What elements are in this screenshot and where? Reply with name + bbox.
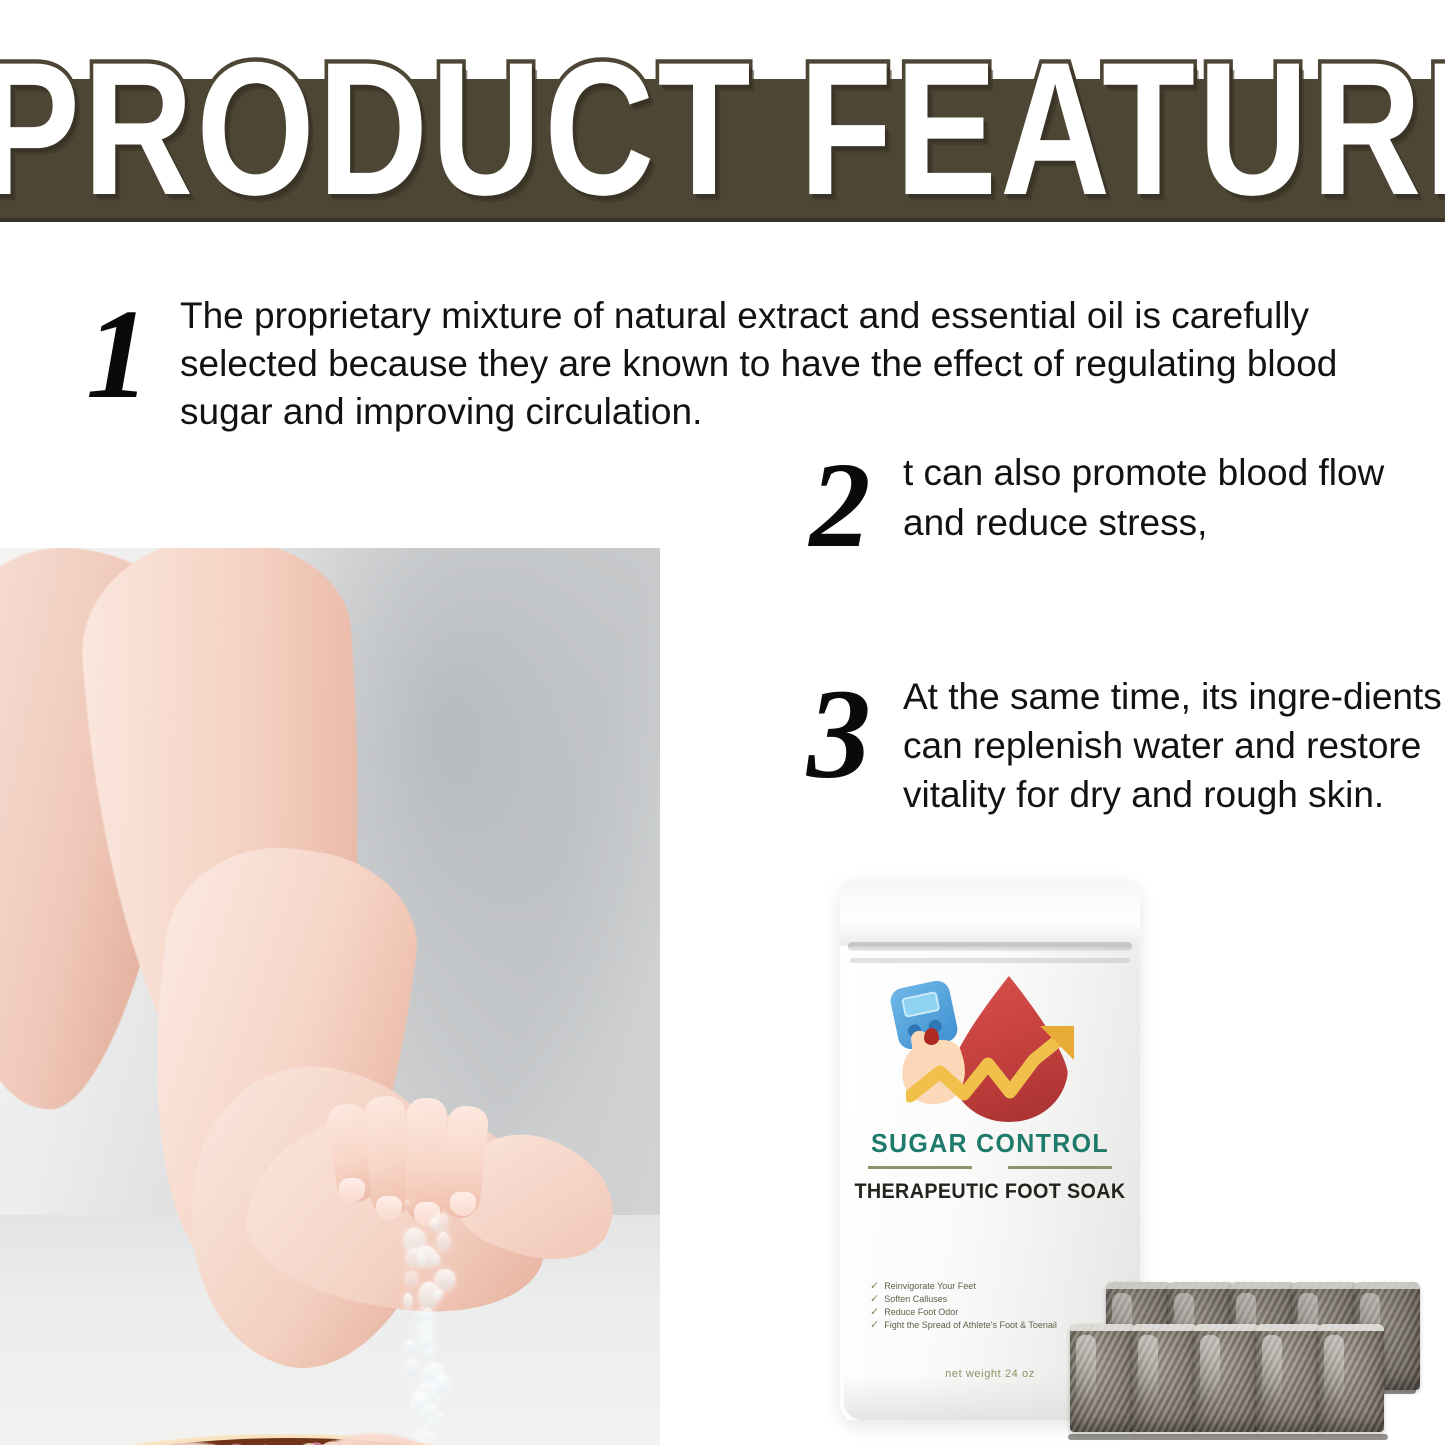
feature-text-1: The proprietary mixture of natural extra… [180, 292, 1395, 436]
water-droplet [405, 1340, 414, 1353]
water-droplet [430, 1218, 438, 1230]
herbal-sachet [1256, 1324, 1322, 1432]
product-shot: SUGAR CONTROL THERAPEUTIC FOOT SOAK ✓ Re… [828, 880, 1428, 1440]
fingernail [450, 1192, 476, 1216]
sachet-highlight [1324, 1335, 1344, 1405]
herbal-sachet [1132, 1324, 1198, 1432]
pouch-zipper-seam [850, 958, 1130, 963]
water-droplet [423, 1308, 433, 1321]
check-icon: ✓ [870, 1293, 879, 1306]
water-droplet [405, 1271, 418, 1287]
pouch-zipper [848, 942, 1132, 951]
sachet-highlight [1200, 1335, 1220, 1405]
page-title: PRODUCT FEATURES [0, 34, 1445, 226]
fingernail [339, 1178, 365, 1202]
feature-item-3: 3 At the same time, its ingre-dients can… [793, 672, 1445, 819]
water-stream [398, 1200, 452, 1445]
herbal-sachet [1318, 1324, 1384, 1432]
check-icon: ✓ [870, 1306, 879, 1319]
herbal-sachet [1194, 1324, 1260, 1432]
water-droplet [435, 1269, 456, 1290]
product-subtitle: THERAPEUTIC FOOT SOAK [849, 1180, 1131, 1204]
benefit-label: Soften Calluses [884, 1293, 947, 1306]
product-features-page: PRODUCT FEATURES 1 The proprietary mixtu… [0, 0, 1445, 1445]
divider-right [1008, 1166, 1112, 1169]
sachet-stack [1068, 1248, 1428, 1444]
foot-soak-photo [0, 548, 660, 1445]
water-droplet [434, 1254, 440, 1266]
pouch-top [840, 880, 1140, 946]
rose-petal [224, 1439, 253, 1445]
brand-name: SUGAR CONTROL [846, 1128, 1134, 1159]
water-droplet [404, 1293, 412, 1308]
product-logo [840, 976, 1140, 1126]
herbal-sachet [1070, 1324, 1136, 1432]
tub-rim [0, 1434, 596, 1445]
feature-item-1: 1 The proprietary mixture of natural ext… [70, 292, 1400, 436]
feature-number-1: 1 [70, 296, 166, 414]
feature-item-2: 2 t can also promote blood flow and redu… [795, 448, 1445, 562]
check-icon: ✓ [870, 1280, 879, 1293]
wooden-foot-tub [0, 1420, 604, 1445]
benefit-label: Reinvigorate Your Feet [884, 1280, 976, 1293]
sachet-highlight [1262, 1335, 1282, 1405]
water-droplet [405, 1359, 419, 1377]
water-droplet [406, 1248, 425, 1267]
feature-number-3: 3 [793, 676, 885, 794]
water-droplet [437, 1232, 449, 1251]
check-icon: ✓ [870, 1319, 879, 1332]
sachet-row-shadow [1068, 1434, 1388, 1440]
benefit-label: Fight the Spread of Athlete's Foot & Toe… [884, 1319, 1057, 1332]
divider-left [868, 1166, 972, 1169]
water-droplet [434, 1290, 443, 1297]
brand-divider [840, 1166, 1140, 1170]
feature-text-3: At the same time, its ingre-dients can r… [903, 672, 1443, 819]
feature-number-2: 2 [795, 450, 885, 562]
feature-text-2: t can also promote blood flow and reduce… [903, 448, 1445, 548]
glucometer-screen [901, 991, 940, 1018]
benefit-label: Reduce Foot Odor [884, 1306, 958, 1319]
sachet-highlight [1076, 1335, 1096, 1405]
water-droplet [404, 1200, 410, 1205]
water-droplet [426, 1347, 433, 1360]
herbal-water [10, 1438, 570, 1445]
sachet-highlight [1138, 1335, 1158, 1405]
trend-arrow-icon [906, 1020, 1088, 1120]
